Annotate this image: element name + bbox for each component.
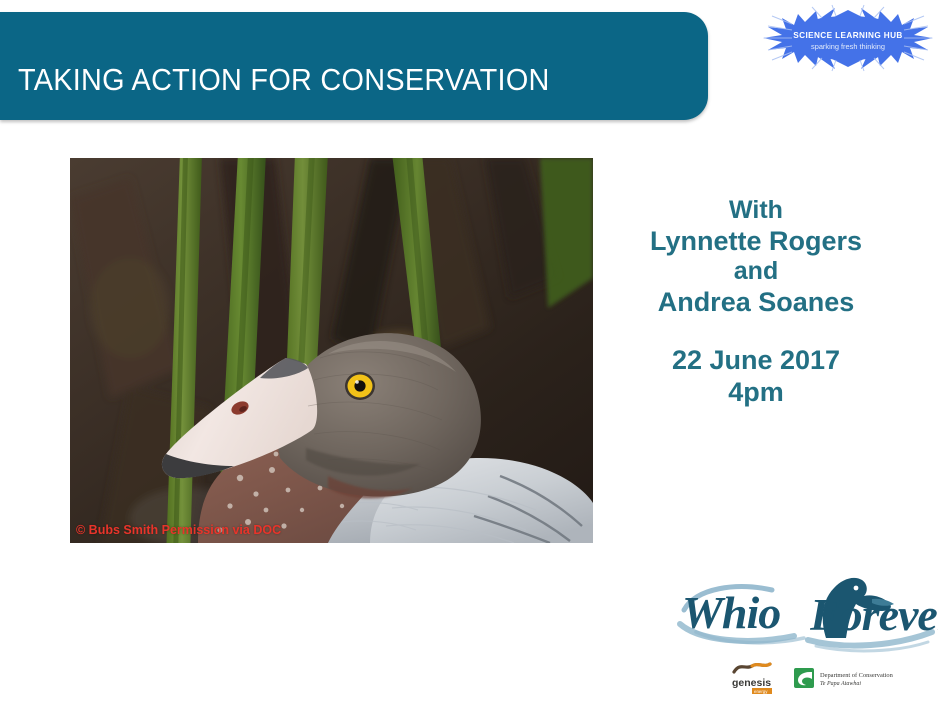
whio-forever-logo: Whio Forever bbox=[676, 566, 938, 656]
department-of-conservation-logo: Department of Conservation Te Papa Atawh… bbox=[794, 668, 894, 688]
info-line-time: 4pm bbox=[606, 377, 906, 409]
info-line-presenter-2: Andrea Soanes bbox=[606, 287, 906, 319]
info-line-and: and bbox=[606, 257, 906, 287]
whio-blue-duck-photo: © Bubs Smith Permission via DOC bbox=[70, 158, 593, 543]
genesis-energy-logo: genesis energy bbox=[732, 664, 772, 694]
presenter-info-block: With Lynnette Rogers and Andrea Soanes 2… bbox=[606, 196, 906, 408]
doc-label: Department of Conservation bbox=[820, 672, 894, 679]
genesis-wordmark: genesis bbox=[732, 677, 771, 689]
info-line-presenter-1: Lynnette Rogers bbox=[606, 226, 906, 258]
info-line-with: With bbox=[606, 196, 906, 226]
partner-logos: genesis energy Department of Conservatio… bbox=[722, 658, 912, 696]
science-learning-hub-tagline: sparking fresh thinking bbox=[811, 42, 885, 51]
science-learning-hub-wordmark: SCIENCE LEARNING HUB bbox=[793, 31, 902, 40]
info-spacer bbox=[606, 319, 906, 345]
science-learning-hub-logo: SCIENCE LEARNING HUB sparking fresh thin… bbox=[762, 2, 934, 76]
page-title: TAKING ACTION FOR CONSERVATION bbox=[18, 62, 550, 98]
title-banner: TAKING ACTION FOR CONSERVATION bbox=[0, 12, 708, 120]
forever-wordmark: Forever bbox=[809, 589, 938, 640]
whio-wordmark: Whio bbox=[682, 587, 780, 638]
doc-sublabel: Te Papa Atawhai bbox=[820, 681, 861, 687]
info-line-date: 22 June 2017 bbox=[606, 345, 906, 377]
duck-eye bbox=[345, 372, 375, 400]
genesis-energy-sublabel: energy bbox=[754, 689, 768, 694]
